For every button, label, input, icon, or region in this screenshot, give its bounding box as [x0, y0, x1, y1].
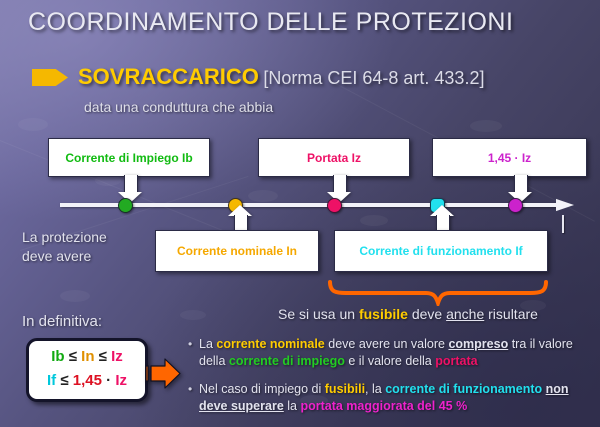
- heading-overload: SOVRACCARICO [Norma CEI 64-8 art. 433.2]: [78, 64, 484, 90]
- axis-point-145iz: [508, 198, 523, 213]
- conclusion-label: In definitiva:: [22, 313, 102, 330]
- bullet-text-run: portata maggiorata del 45 %: [300, 399, 467, 413]
- callout-box-iz: Portata Iz: [258, 138, 410, 177]
- background-decoration: [248, 190, 278, 202]
- bullet-text-run: la: [284, 399, 301, 413]
- axis-point-iz: [327, 198, 342, 213]
- callout-label: 1,45 · Iz: [488, 151, 531, 165]
- protection-label-line2: deve avere: [22, 247, 107, 266]
- protection-label-line1: La protezione: [22, 228, 107, 247]
- bullet-text-run: compreso: [448, 337, 508, 351]
- current-axis-line: [60, 203, 560, 207]
- bullet-text-run: , la: [365, 382, 385, 396]
- callout-label: Corrente di funzionamento If: [359, 244, 522, 258]
- callout-label: Corrente di Impiego Ib: [65, 151, 192, 165]
- axis-point-if: [430, 198, 445, 213]
- fuse-note-post: risultare: [484, 306, 538, 322]
- callout-box-145iz: 1,45 · Iz: [432, 138, 587, 177]
- axis-point-in: [228, 198, 243, 213]
- bullet-text-run: corrente di funzionamento: [385, 382, 542, 396]
- formula-token: If: [47, 372, 56, 389]
- list-item: Nel caso di impiego di fusibili, la corr…: [188, 381, 594, 414]
- bullet-text-run: La: [199, 337, 216, 351]
- formula-token: ·: [102, 372, 115, 389]
- formula-token: 1,45: [73, 372, 102, 389]
- fuse-note-pre: Se si usa un: [278, 306, 359, 322]
- bullet-text-run: corrente di impiego: [229, 354, 345, 368]
- formula-line-2: If ≤ 1,45 · Iz: [29, 372, 145, 389]
- callout-label: Portata Iz: [307, 151, 361, 165]
- orange-right-arrow-icon: [145, 357, 181, 390]
- bullet-list: La corrente nominale deve avere un valor…: [188, 336, 594, 426]
- bullet-text-run: portata: [435, 354, 477, 368]
- callout-label: Corrente nominale In: [177, 244, 297, 258]
- background-decoration: [360, 215, 388, 226]
- page-title: COORDINAMENTO DELLE PROTEZIONI: [28, 8, 513, 37]
- formula-token: ≤: [56, 372, 73, 389]
- bullet-text-run: corrente nominale: [216, 337, 324, 351]
- protection-requirement-label: La protezione deve avere: [22, 228, 107, 266]
- heading-keyword: SOVRACCARICO: [78, 64, 259, 89]
- background-decoration: [180, 310, 206, 320]
- bullet-text-run: fusibili: [325, 382, 365, 396]
- background-decoration: [470, 120, 502, 132]
- formula-token: Iz: [111, 348, 123, 365]
- formula-token: Iz: [115, 372, 127, 389]
- fuse-note-keyword: fusibile: [359, 306, 408, 322]
- formula-token: ≤: [95, 348, 112, 365]
- formula-token: Ib: [51, 348, 64, 365]
- fuse-note-underlined: anche: [446, 306, 484, 322]
- background-decoration: [18, 118, 48, 131]
- callout-box-if: Corrente di funzionamento If: [334, 230, 548, 272]
- subtitle: data una conduttura che abbia: [84, 99, 273, 115]
- fuse-note-text: Se si usa un fusibile deve anche risulta…: [278, 306, 538, 322]
- slide-canvas: COORDINAMENTO DELLE PROTEZIONI SOVRACCAR…: [0, 0, 600, 427]
- bullet-text-run: e il valore della: [345, 354, 435, 368]
- formula-line-1: Ib ≤ In ≤ Iz: [29, 348, 145, 365]
- formula-box: Ib ≤ In ≤ Iz If ≤ 1,45 · Iz: [26, 338, 148, 402]
- axis-point-ib: [118, 198, 133, 213]
- formula-token: In: [81, 348, 94, 365]
- axis-arrowhead-icon: [556, 197, 574, 213]
- yellow-arrow-bullet-icon: [32, 69, 68, 86]
- callout-box-ib: Corrente di Impiego Ib: [48, 138, 210, 177]
- fuse-note-mid: deve: [408, 306, 446, 322]
- background-decoration: [60, 290, 90, 302]
- formula-token: ≤: [65, 348, 82, 365]
- callout-box-in: Corrente nominale In: [155, 230, 319, 272]
- heading-norm-reference: [Norma CEI 64-8 art. 433.2]: [263, 68, 484, 88]
- bullet-text-run: deve avere un valore: [325, 337, 449, 351]
- axis-label-I: [562, 215, 564, 233]
- list-item: La corrente nominale deve avere un valor…: [188, 336, 594, 369]
- bullet-text-run: Nel caso di impiego di: [199, 382, 325, 396]
